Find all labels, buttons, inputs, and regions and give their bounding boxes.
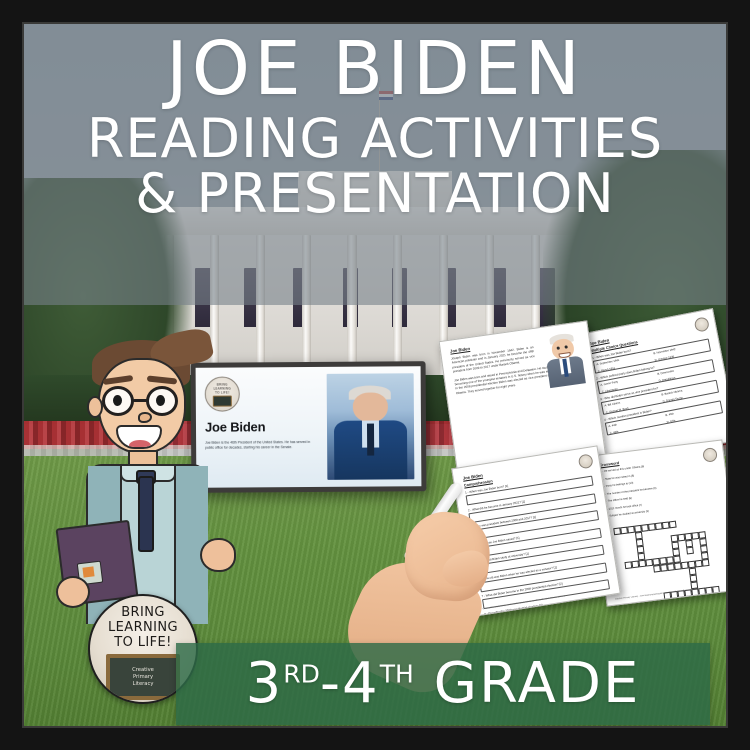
- badge-board-line-2: Primary: [133, 674, 153, 681]
- crossword-brand-logo-icon: [702, 447, 718, 463]
- mascot-tie: [138, 476, 154, 552]
- badge-board-line-3: Literacy: [133, 681, 154, 688]
- grade-level-text: 3RD-4TH GRADE: [246, 656, 641, 712]
- badge-line-3: TO LIFE!: [114, 635, 172, 650]
- mascot-pupil-left: [113, 395, 122, 406]
- subtitle-line-2: & PRESENTATION: [24, 166, 726, 221]
- subtitle-line-1: READING ACTIVITIES: [24, 111, 726, 166]
- grade-ordinal-2: TH: [380, 659, 414, 688]
- product-cover: JOE BIDEN READING ACTIVITIES & PRESENTAT…: [0, 0, 750, 750]
- grade-number-2: 4: [342, 651, 380, 716]
- grade-dash: -: [320, 651, 342, 716]
- mascot-hand-right: [200, 538, 236, 572]
- badge-chalkboard-icon: Creative Primary Literacy: [106, 654, 180, 700]
- cover-frame: JOE BIDEN READING ACTIVITIES & PRESENTAT…: [22, 22, 728, 728]
- badge-line-1: BRING: [121, 605, 165, 620]
- mascot-book-house-icon: [82, 566, 94, 577]
- badge-line-2: LEARNING: [108, 620, 178, 635]
- portrait-face: [353, 393, 388, 423]
- grade-banner: 3RD-4TH GRADE: [176, 643, 710, 725]
- portrait-tie: [367, 423, 374, 455]
- grade-number-1: 3: [246, 651, 284, 716]
- biden-portrait-image: [326, 373, 414, 480]
- mascot-tongue: [129, 440, 151, 449]
- student-mascot-illustration: [54, 324, 240, 624]
- biden-cartoon-illustration: [541, 331, 588, 388]
- mascot-ear: [87, 396, 103, 418]
- title-block: JOE BIDEN READING ACTIVITIES & PRESENTAT…: [24, 34, 726, 221]
- mascot-hand-left: [56, 576, 90, 608]
- slide-right-column: [326, 366, 421, 487]
- grade-word: GRADE: [434, 651, 641, 716]
- mascot-pupil-right: [156, 395, 165, 406]
- page-title: JOE BIDEN: [24, 34, 726, 105]
- badge-board-line-1: Creative: [132, 667, 154, 674]
- mascot-glasses-bridge: [133, 399, 148, 402]
- grade-ordinal-1: RD: [283, 659, 320, 688]
